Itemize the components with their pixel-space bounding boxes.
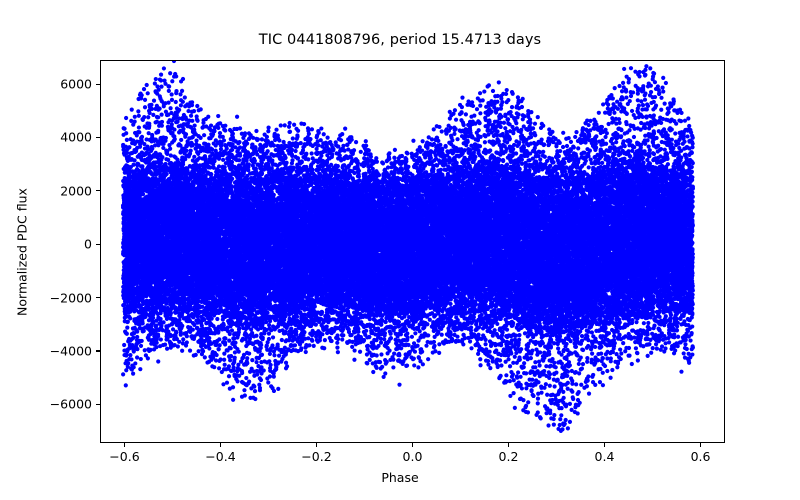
- x-tick-label: 0.0: [403, 449, 423, 464]
- y-tick-mark: [96, 84, 100, 85]
- x-tick-label: −0.6: [109, 449, 139, 464]
- page-title: TIC 0441808796, period 15.4713 days: [0, 32, 800, 48]
- x-tick-mark: [508, 443, 509, 447]
- x-tick-mark: [700, 443, 701, 447]
- x-tick-label: −0.2: [301, 449, 331, 464]
- y-tick-mark: [96, 404, 100, 405]
- y-tick-label: 6000: [60, 77, 92, 92]
- y-tick-mark: [96, 350, 100, 351]
- matplotlib-figure: TIC 0441808796, period 15.4713 days −0.6…: [0, 0, 800, 500]
- x-tick-mark: [220, 443, 221, 447]
- y-tick-mark: [96, 190, 100, 191]
- x-tick-label: −0.4: [205, 449, 235, 464]
- x-tick-label: 0.6: [691, 449, 711, 464]
- x-tick-mark: [316, 443, 317, 447]
- x-tick-mark: [124, 443, 125, 447]
- x-axis-label: Phase: [0, 470, 800, 485]
- y-tick-label: 0: [84, 237, 92, 252]
- y-tick-label: −6000: [50, 397, 92, 412]
- x-tick-label: 0.2: [499, 449, 519, 464]
- scatter-plot-canvas: [101, 61, 725, 443]
- y-tick-mark: [96, 297, 100, 298]
- y-tick-mark: [96, 244, 100, 245]
- x-tick-mark: [604, 443, 605, 447]
- y-tick-mark: [96, 137, 100, 138]
- x-tick-mark: [412, 443, 413, 447]
- y-tick-label: −2000: [50, 290, 92, 305]
- plot-axes: [100, 60, 725, 443]
- x-tick-label: 0.4: [595, 449, 615, 464]
- y-axis-label: Normalized PDC flux: [15, 188, 30, 316]
- y-tick-label: 2000: [60, 183, 92, 198]
- y-tick-label: −4000: [50, 343, 92, 358]
- y-tick-label: 4000: [60, 130, 92, 145]
